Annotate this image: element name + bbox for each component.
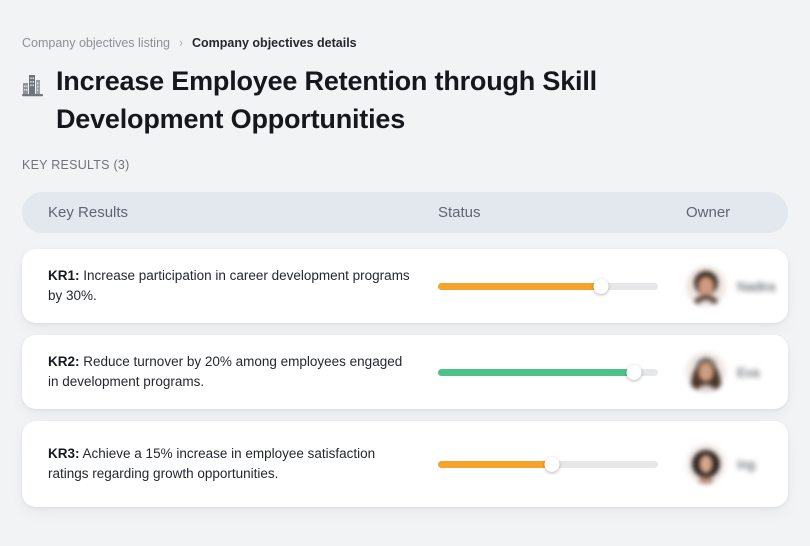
key-result-text: Reduce turnover by 20% among employees e… xyxy=(48,354,402,389)
page-title: Increase Employee Retention through Skil… xyxy=(56,62,662,138)
key-results-table: Key Results Status Owner KR1: Increase p… xyxy=(22,192,788,519)
page-title-block: Increase Employee Retention through Skil… xyxy=(22,62,662,138)
slider-knob[interactable] xyxy=(626,365,641,380)
table-row[interactable]: KR3: Achieve a 15% increase in employee … xyxy=(22,421,788,507)
status-cell xyxy=(438,277,686,295)
key-result-description: KR1: Increase participation in career de… xyxy=(48,266,438,306)
progress-slider[interactable] xyxy=(438,277,658,295)
slider-knob[interactable] xyxy=(545,457,560,472)
key-result-description: KR3: Achieve a 15% increase in employee … xyxy=(48,444,438,484)
office-building-icon xyxy=(22,71,44,97)
key-result-text: Achieve a 15% increase in employee satis… xyxy=(48,446,375,481)
key-result-tag: KR1: xyxy=(48,268,80,283)
owner-cell: Ing xyxy=(686,444,788,484)
column-header-status: Status xyxy=(438,204,686,221)
column-header-owner: Owner xyxy=(686,204,788,221)
key-results-section-label: KEY RESULTS (3) xyxy=(22,158,130,172)
slider-fill xyxy=(438,369,634,376)
status-cell xyxy=(438,455,686,473)
status-cell xyxy=(438,363,686,381)
owner-cell: Eva xyxy=(686,352,788,392)
owner-cell: Nadira xyxy=(686,266,788,306)
slider-knob[interactable] xyxy=(593,279,608,294)
page-root: Company objectives listing › Company obj… xyxy=(0,0,810,546)
key-result-tag: KR3: xyxy=(48,446,80,461)
avatar xyxy=(686,444,726,484)
slider-fill xyxy=(438,283,601,290)
key-result-tag: KR2: xyxy=(48,354,80,369)
progress-slider[interactable] xyxy=(438,363,658,381)
table-row[interactable]: KR2: Reduce turnover by 20% among employ… xyxy=(22,335,788,409)
table-body: KR1: Increase participation in career de… xyxy=(22,249,788,507)
key-result-description: KR2: Reduce turnover by 20% among employ… xyxy=(48,352,438,392)
breadcrumb: Company objectives listing › Company obj… xyxy=(22,35,357,51)
avatar xyxy=(686,352,726,392)
key-result-text: Increase participation in career develop… xyxy=(48,268,410,303)
owner-name: Nadira xyxy=(737,279,775,294)
table-header-row: Key Results Status Owner xyxy=(22,192,788,233)
column-header-key-results: Key Results xyxy=(48,204,438,221)
slider-fill xyxy=(438,461,552,468)
chevron-right-icon: › xyxy=(179,35,183,51)
owner-name: Ing xyxy=(737,457,755,472)
table-row[interactable]: KR1: Increase participation in career de… xyxy=(22,249,788,323)
progress-slider[interactable] xyxy=(438,455,658,473)
avatar xyxy=(686,266,726,306)
breadcrumb-current-details: Company objectives details xyxy=(192,35,357,51)
owner-name: Eva xyxy=(737,365,759,380)
breadcrumb-link-listing[interactable]: Company objectives listing xyxy=(22,35,170,51)
